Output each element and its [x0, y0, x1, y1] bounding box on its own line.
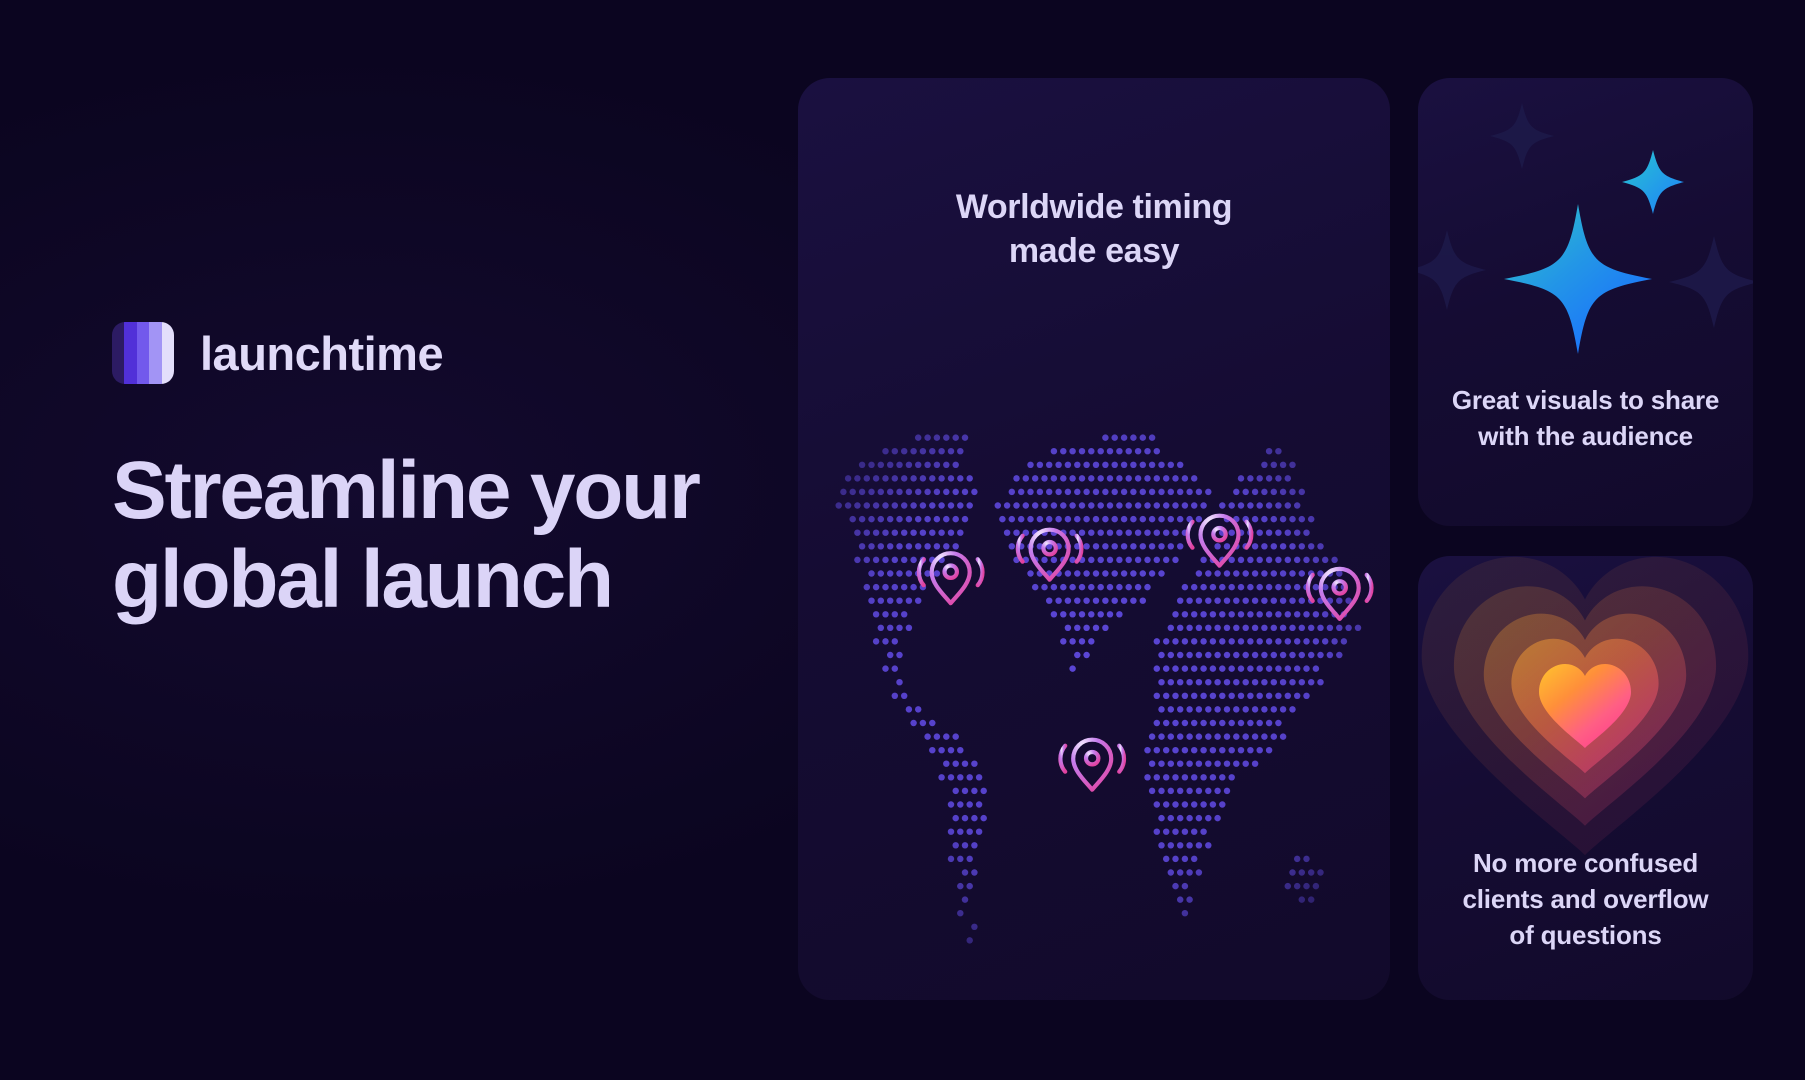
hero-left-panel: launchtime Streamline your global launch [112, 318, 752, 625]
marker-south-america[interactable] [1060, 740, 1124, 790]
worldwide-timing-card: Worldwide timing made easy [798, 78, 1390, 1000]
heart-svg [1418, 556, 1753, 878]
great-visuals-caption: Great visuals to share with the audience [1448, 383, 1723, 455]
marker-north-america-west[interactable] [919, 553, 983, 603]
sparkle-small [1622, 150, 1684, 214]
layered-heart-icon [1418, 556, 1753, 878]
heart-halo-layers [1422, 557, 1749, 855]
great-visuals-card: Great visuals to share with the audience [1418, 78, 1753, 526]
logo-bar-5 [162, 322, 174, 384]
headline-line-1: Streamline your [112, 446, 712, 535]
no-more-confused-clients-caption: No more confused clients and overflow of… [1448, 846, 1723, 954]
map-card-title: Worldwide timing made easy [798, 186, 1390, 273]
headline-line-2: global launch [112, 535, 712, 624]
brand-lockup: launchtime [112, 318, 752, 388]
logo-bar-2 [124, 322, 136, 384]
dotted-world-map [798, 408, 1390, 968]
launchtime-bars-logo [112, 322, 174, 384]
brand-name: launchtime [200, 330, 443, 377]
no-more-confused-clients-card: No more confused clients and overflow of… [1418, 556, 1753, 1000]
map-title-line-2: made easy [858, 230, 1330, 274]
slide-canvas: launchtime Streamline your global launch… [0, 0, 1805, 1080]
page-title: Streamline your global launch [112, 446, 712, 625]
logo-bar-4 [149, 322, 161, 384]
logo-bar-3 [137, 322, 149, 384]
map-title-line-1: Worldwide timing [858, 186, 1330, 230]
sparkle-svg [1418, 78, 1753, 378]
world-map-svg [798, 408, 1390, 968]
sparkle-large [1504, 204, 1652, 354]
logo-bar-1 [112, 322, 124, 384]
sparkle-star-icon [1418, 78, 1753, 378]
